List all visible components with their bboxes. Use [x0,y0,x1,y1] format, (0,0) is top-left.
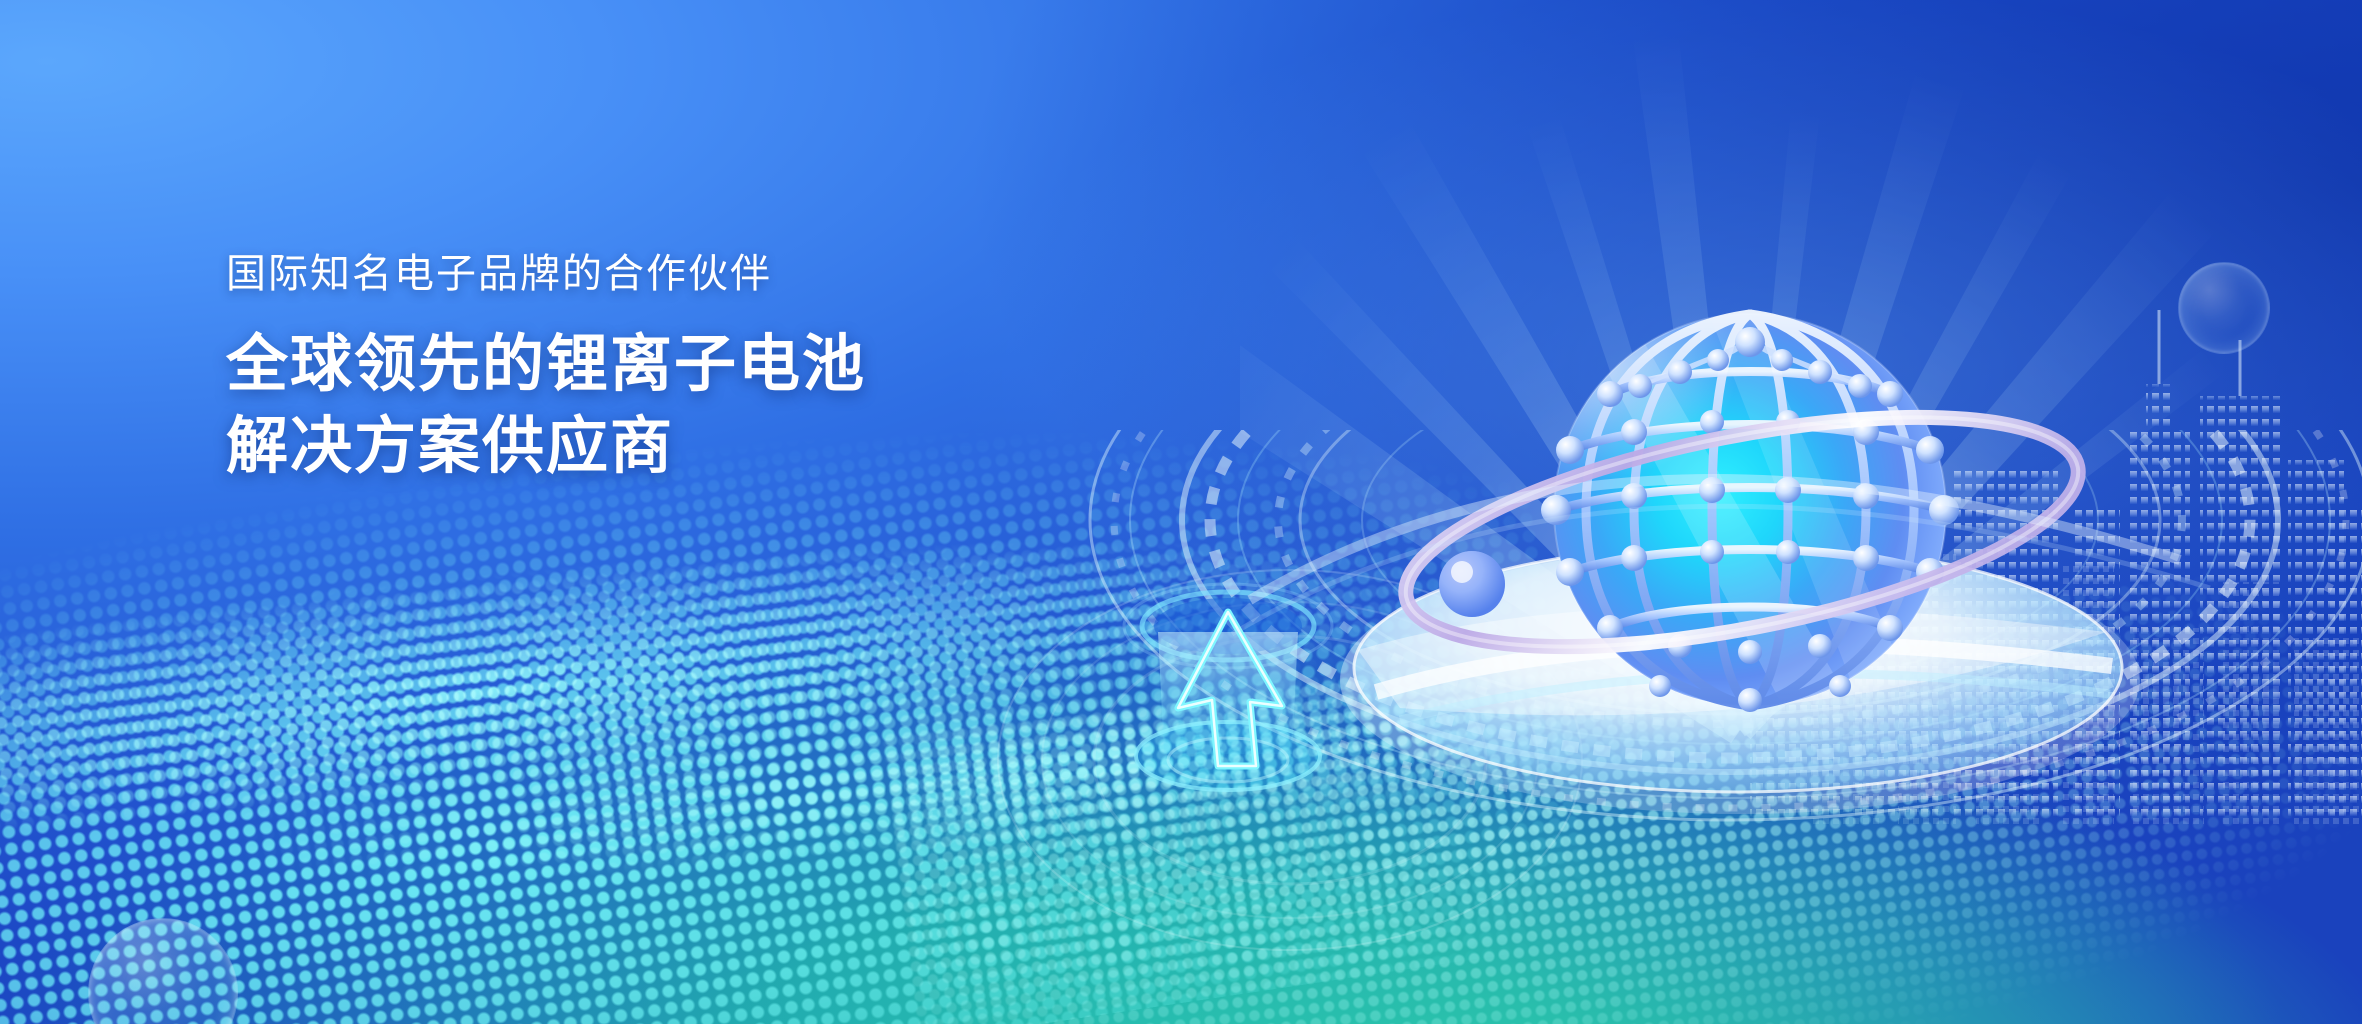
hero-banner: 国际知名电子品牌的合作伙伴 全球领先的锂离子电池 解决方案供应商 [0,0,2362,1024]
hero-copy: 国际知名电子品牌的合作伙伴 全球领先的锂离子电池 解决方案供应商 [226,250,1126,488]
headline-line-1: 全球领先的锂离子电池 [226,324,1126,406]
upward-arrow-beam [1124,584,1332,790]
headline-line-2: 解决方案供应商 [226,406,1126,488]
glass-bubble-top-right [2178,262,2270,354]
page-title: 全球领先的锂离子电池 解决方案供应商 [226,324,1126,488]
eyebrow-text: 国际知名电子品牌的合作伙伴 [226,250,1126,298]
globe-scene [1100,180,2260,900]
